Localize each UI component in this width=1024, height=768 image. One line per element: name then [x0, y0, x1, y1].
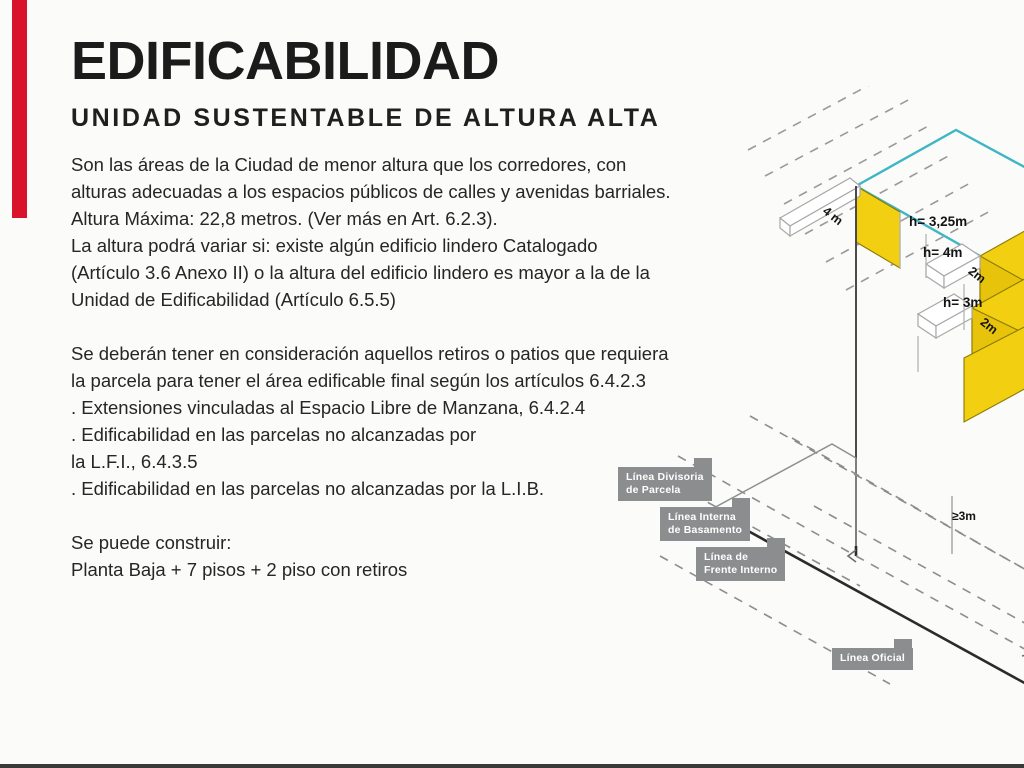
- callout-line-1: Línea Oficial: [840, 652, 905, 664]
- four-m-measure-box: [780, 178, 860, 236]
- height-leader-lines: [900, 212, 964, 372]
- diagram-svg: [560, 86, 1024, 706]
- dimension-ge-3m: ≥3m: [952, 509, 976, 523]
- dimension-h-3: h= 3m: [943, 295, 982, 310]
- red-accent-bar: [12, 0, 27, 218]
- dimension-h-325: h= 3,25m: [909, 214, 967, 229]
- slide-canvas: EDIFICABILIDAD UNIDAD SUSTENTABLE DE ALT…: [0, 0, 1024, 768]
- bottom-hairline: [0, 764, 1024, 768]
- callout-line-1: Línea Interna: [668, 511, 736, 523]
- dimension-h-4: h= 4m: [923, 245, 962, 260]
- callout-linea-interna-de-basamento: Línea Internade Basamento: [660, 507, 750, 541]
- page-title: EDIFICABILIDAD: [71, 34, 761, 88]
- isometric-building-diagram: h= 3,25m h= 4m h= 3m 2m 2m 4 m ≥3m Línea…: [560, 86, 1024, 706]
- callout-linea-divisoria-de-parcela: Línea Divisoriade Parcela: [618, 467, 712, 501]
- callout-linea-de-frente-interno: Línea deFrente Interno: [696, 547, 785, 581]
- callout-line-1: Línea de: [704, 551, 748, 563]
- callout-line-2: Frente Interno: [704, 564, 777, 576]
- callout-line-1: Línea Divisoria: [626, 471, 704, 483]
- callout-linea-oficial: Línea Oficial: [832, 648, 913, 670]
- callout-line-2: de Parcela: [626, 484, 681, 496]
- callout-line-2: de Basamento: [668, 524, 742, 536]
